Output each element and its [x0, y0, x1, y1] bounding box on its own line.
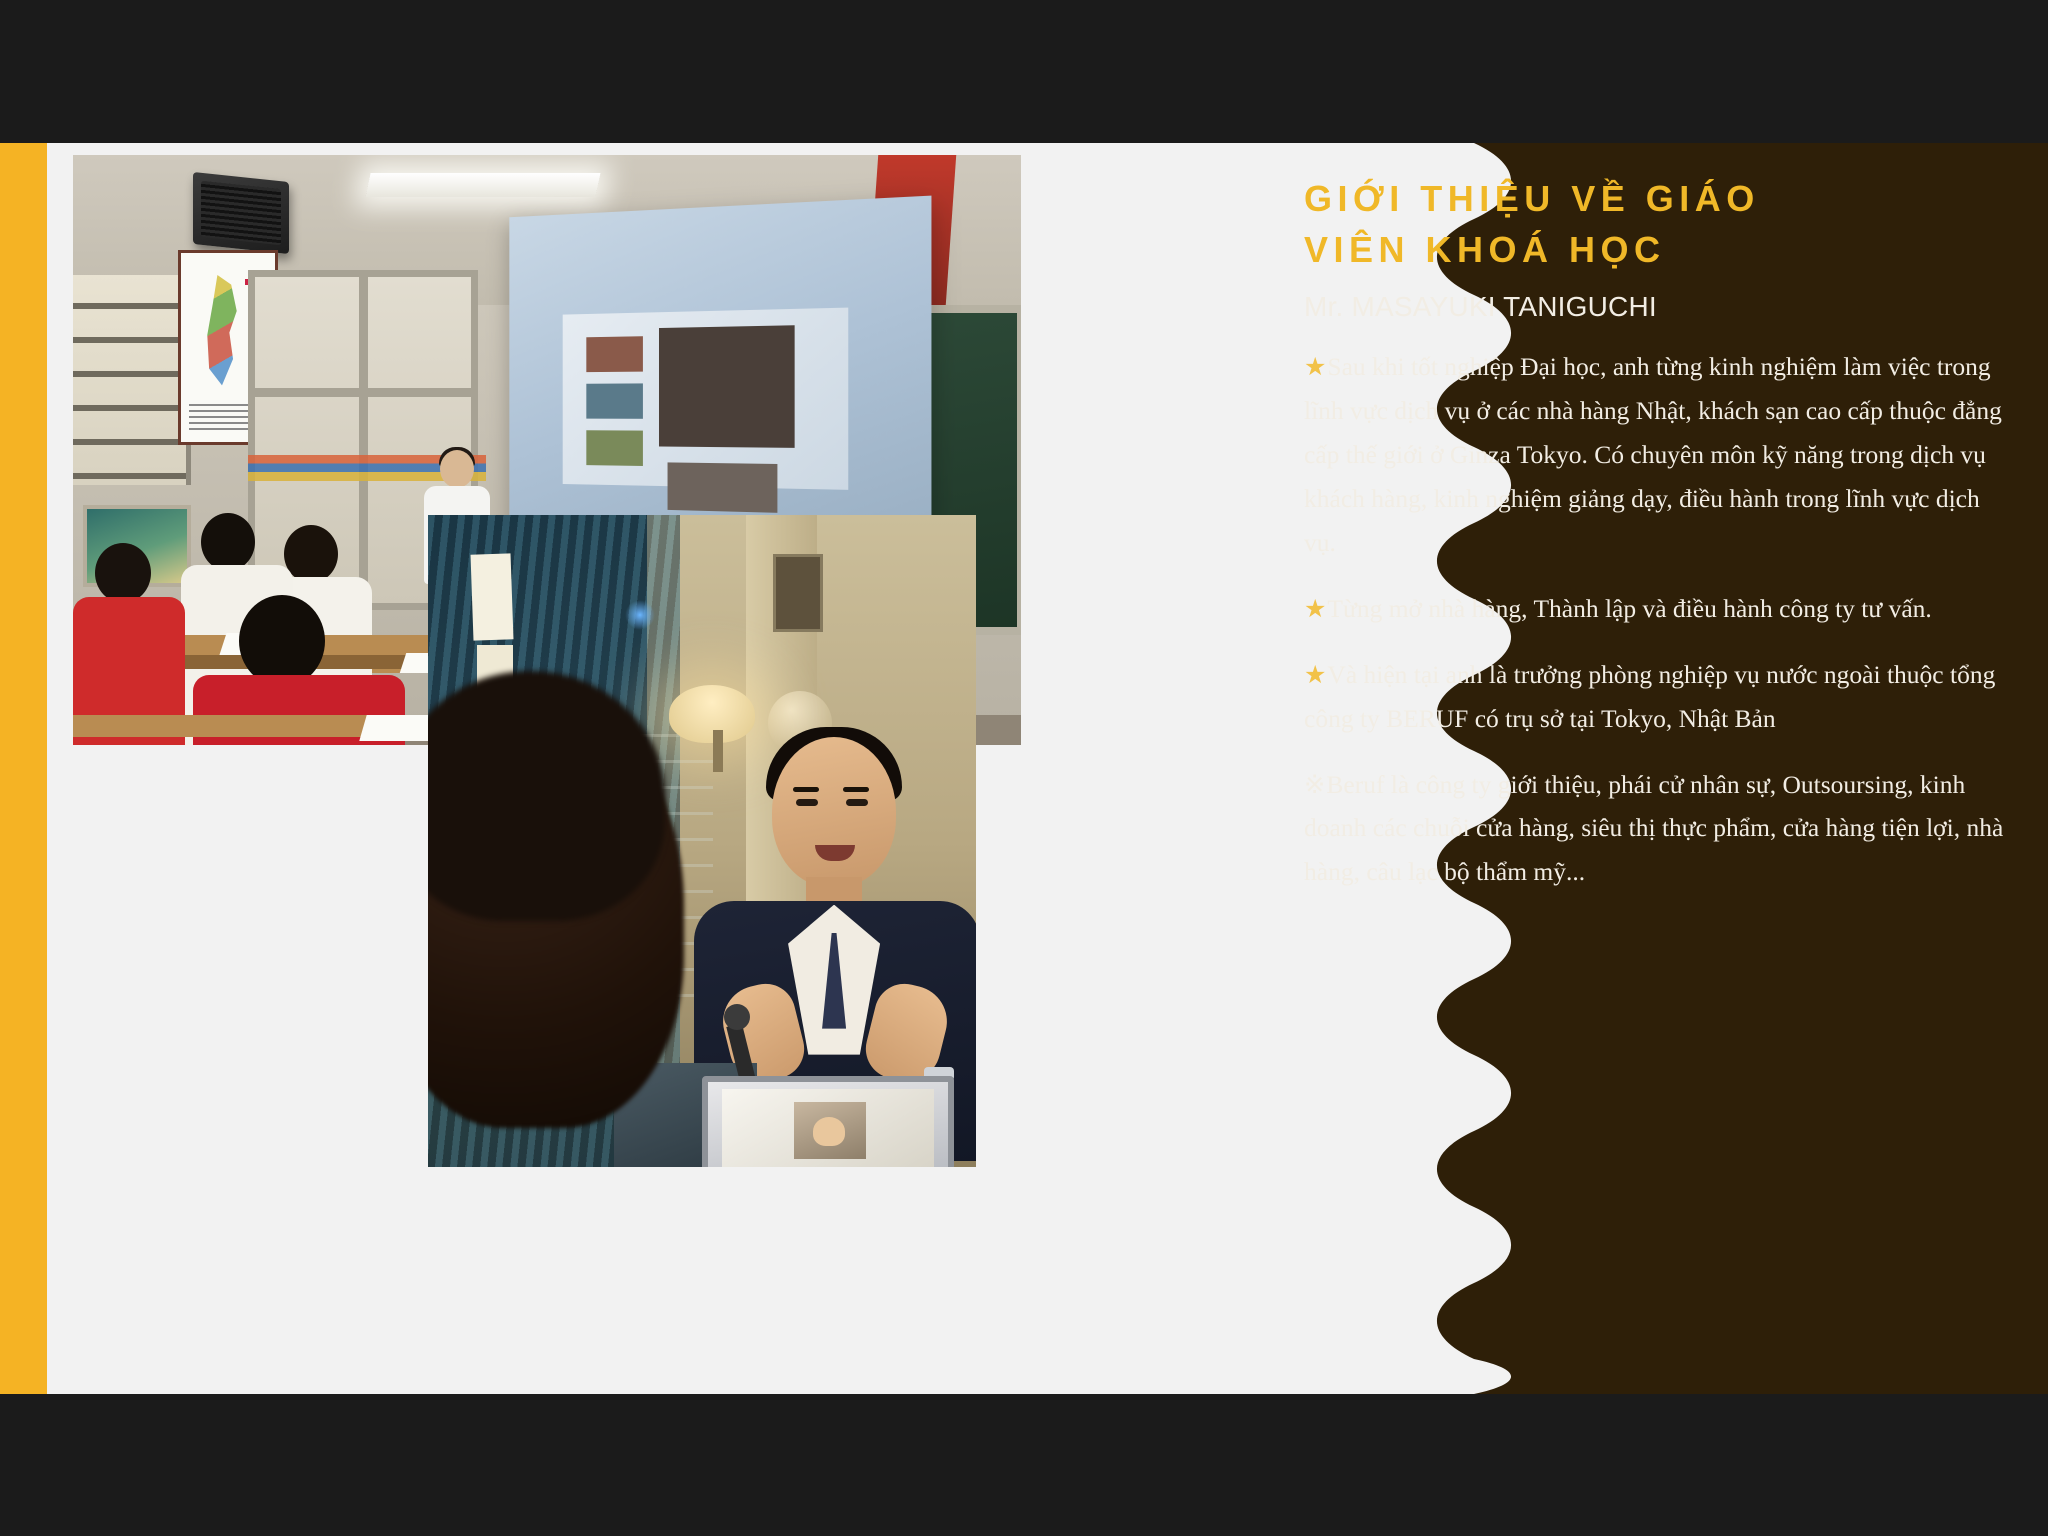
laptop-screen [702, 1076, 954, 1167]
microphone-icon [724, 1004, 750, 1030]
reference-mark-icon: ※ [1304, 770, 1325, 799]
paragraph-text: Và hiện tại anh là trưởng phòng nghiệp v… [1304, 660, 1995, 733]
star-icon: ★ [1304, 596, 1326, 623]
panel-paragraph: ※Beruf là công ty giới thiệu, phái cử nh… [1304, 763, 2006, 895]
slide-stage: GIỚI THIỆU VỀ GIÁO VIÊN KHOÁ HỌC Mr. MAS… [0, 0, 2048, 1536]
desk-foreground [73, 715, 403, 737]
left-accent-bar [0, 143, 47, 1394]
panel-paragraph: ★Sau khi tốt nghiệp Đại học, anh từng ki… [1304, 345, 2006, 564]
star-icon: ★ [1304, 354, 1326, 381]
info-panel: GIỚI THIỆU VỀ GIÁO VIÊN KHOÁ HỌC Mr. MAS… [1244, 143, 2048, 1394]
letterbox-top [0, 0, 2048, 143]
slide-canvas: GIỚI THIỆU VỀ GIÁO VIÊN KHOÁ HỌC Mr. MAS… [0, 143, 2048, 1394]
star-icon: ★ [1304, 662, 1326, 689]
wall-speaker-icon [193, 172, 289, 254]
panel-content: GIỚI THIỆU VỀ GIÁO VIÊN KHOÁ HỌC Mr. MAS… [1304, 143, 2006, 1394]
paragraph-text: Sau khi tốt nghiệp Đại học, anh từng kin… [1304, 352, 2002, 557]
page-title: GIỚI THIỆU VỀ GIÁO VIÊN KHOÁ HỌC [1304, 173, 2006, 275]
letterbox-bottom [0, 1394, 2048, 1536]
wall-frame [773, 554, 822, 632]
paragraph-text: Từng mở nhà hàng, Thành lập và điều hành… [1327, 594, 1931, 623]
fluorescent-light-icon [365, 173, 600, 197]
panel-paragraph-list: ★Sau khi tốt nghiệp Đại học, anh từng ki… [1304, 345, 2006, 894]
blue-light-flare [625, 600, 655, 630]
wall-note [470, 553, 513, 640]
instructor-name: Mr. MASAYUKI TANIGUCHI [1304, 291, 2006, 323]
speaker-photo [428, 515, 976, 1167]
panel-paragraph: ★Và hiện tại anh là trưởng phòng nghiệp … [1304, 653, 2006, 741]
panel-paragraph: ★Từng mở nhà hàng, Thành lập và điều hàn… [1304, 587, 2006, 631]
paragraph-text: Beruf là công ty giới thiệu, phái cử nhâ… [1304, 770, 2003, 887]
window [73, 275, 191, 485]
